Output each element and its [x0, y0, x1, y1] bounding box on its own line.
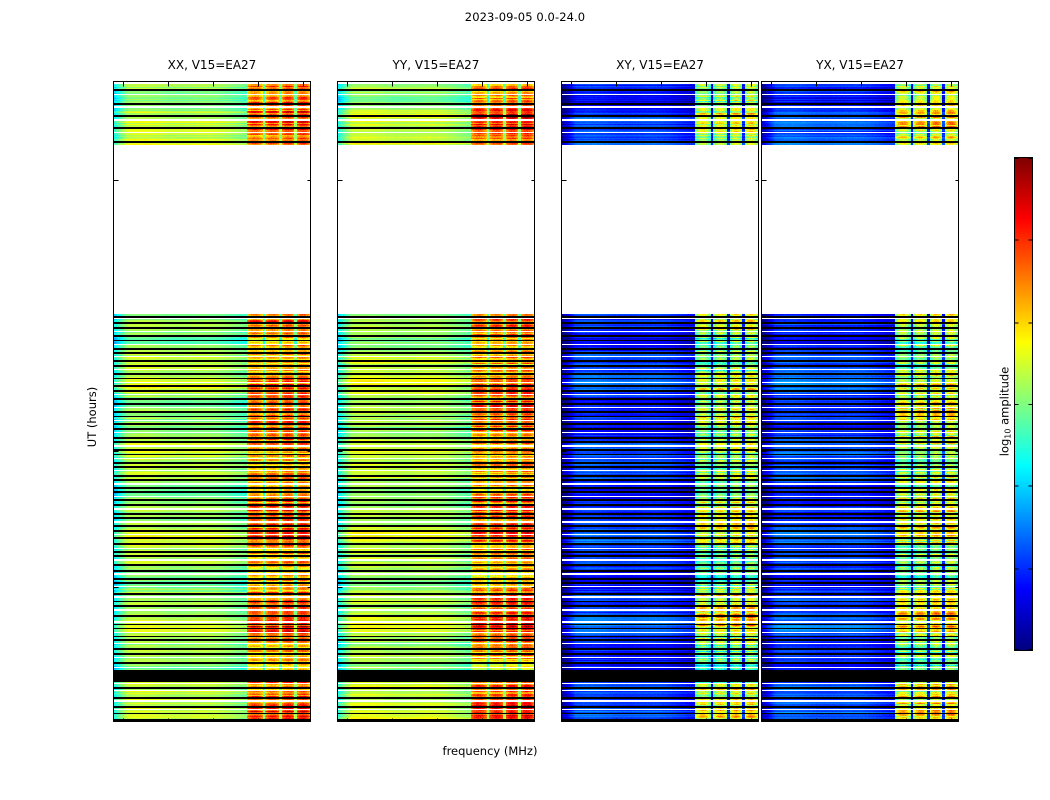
panel-title-xy: XY, V15=EA27: [561, 58, 759, 72]
heatmap-panel-xy[interactable]: [561, 81, 759, 722]
panel-title-yy: YY, V15=EA27: [337, 58, 535, 72]
heatmap-panel-yx[interactable]: [761, 81, 959, 722]
figure: 2023-09-05 0.0-24.0 UT (hours) frequency…: [0, 0, 1050, 800]
panel-title-xx: XX, V15=EA27: [113, 58, 311, 72]
y-axis-title: UT (hours): [85, 387, 99, 447]
x-axis-title: frequency (MHz): [380, 744, 600, 758]
heatmap-panel-xx[interactable]: [113, 81, 311, 722]
heatmap-panel-yy[interactable]: [337, 81, 535, 722]
colorbar-title: log10 amplitude: [998, 312, 1013, 512]
panel-title-yx: YX, V15=EA27: [761, 58, 959, 72]
colorbar-title-main: log: [998, 439, 1012, 457]
colorbar-title-tail: amplitude: [998, 367, 1012, 429]
figure-suptitle: 2023-09-05 0.0-24.0: [0, 10, 1050, 24]
colorbar-title-subscript: 10: [1004, 429, 1013, 439]
colorbar[interactable]: [1014, 157, 1033, 651]
